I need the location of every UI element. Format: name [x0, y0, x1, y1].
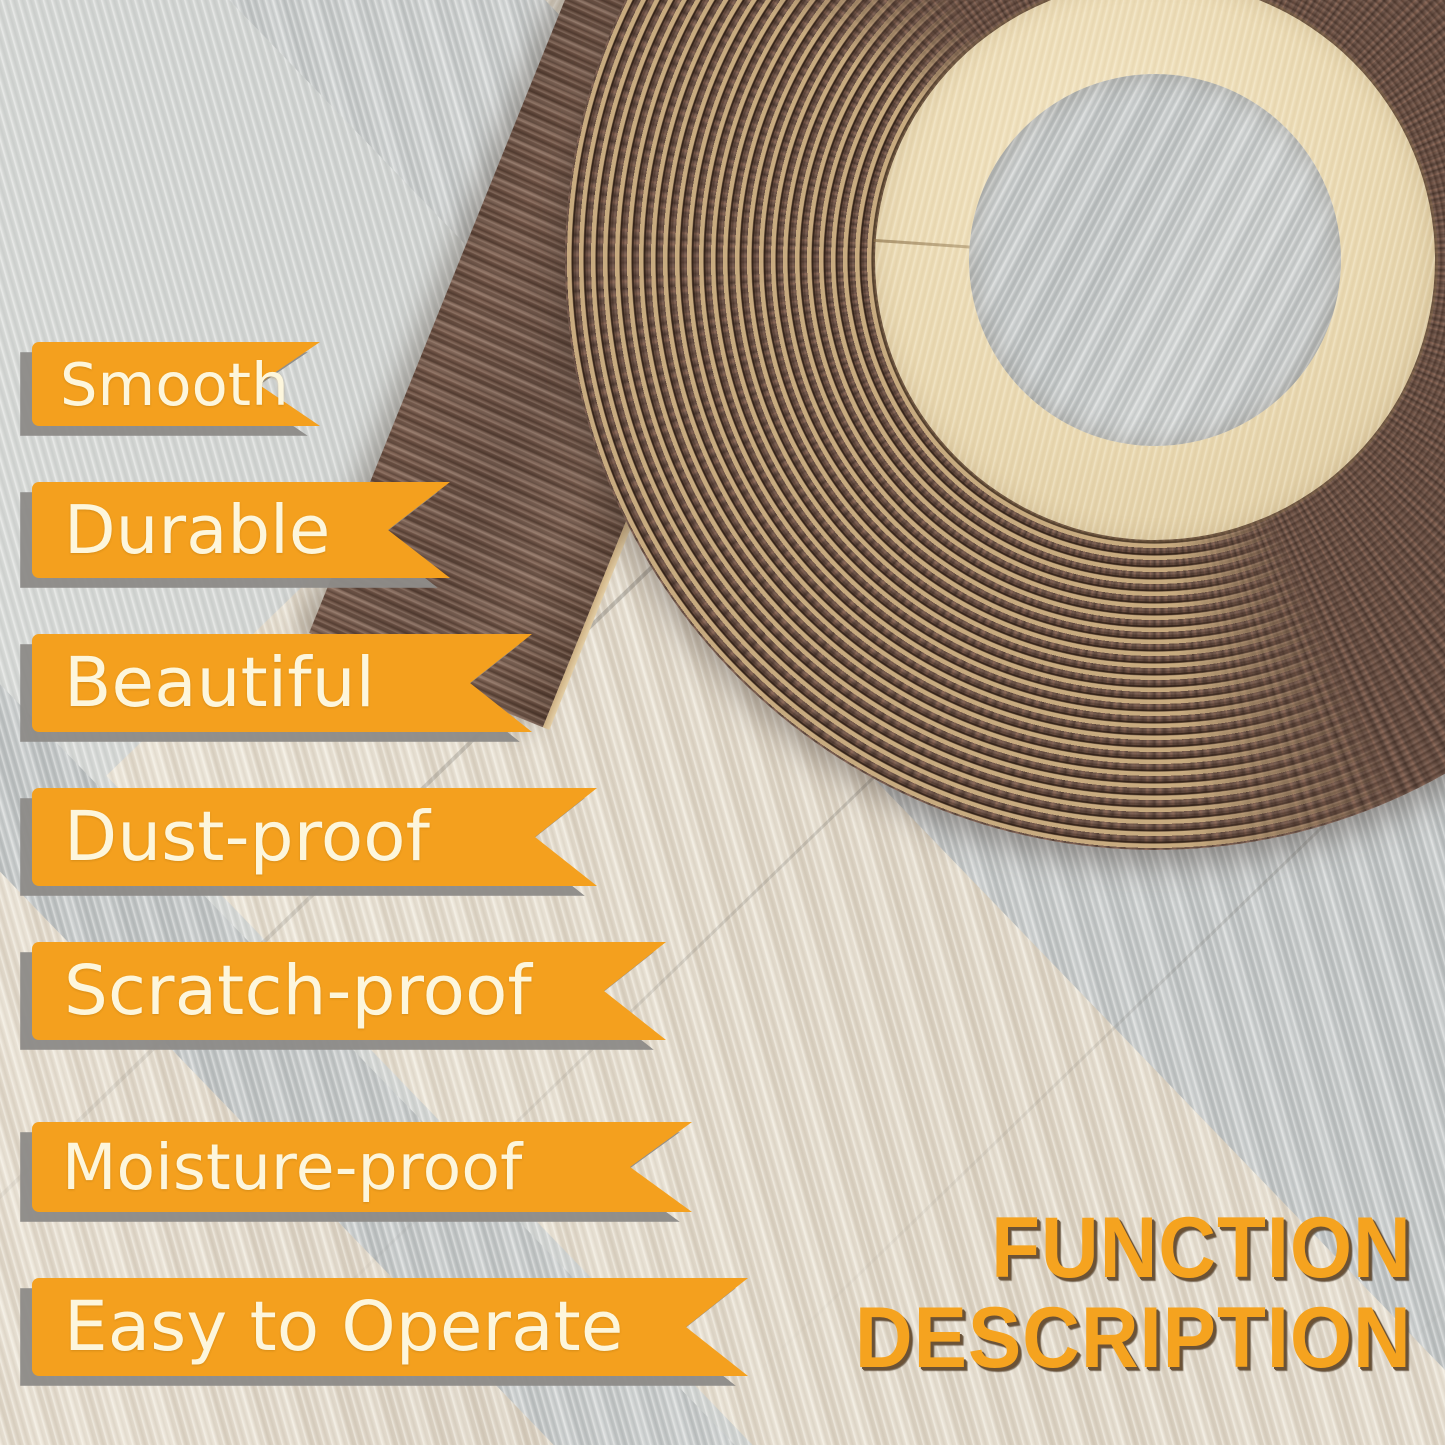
feature-banner-label: Dust-proof: [64, 797, 430, 877]
feature-banner: Moisture-proof: [32, 1122, 692, 1212]
title-line-description: DESCRIPTION: [855, 1294, 1412, 1383]
tape-roll-center-hole: [969, 74, 1341, 446]
function-description-title: FUNCTION DESCRIPTION: [813, 1204, 1412, 1383]
feature-banner: Easy to Operate: [32, 1278, 748, 1376]
feature-banner-label: Beautiful: [64, 643, 375, 723]
wood-grain-edge-banding-tape-roll: [565, 0, 1445, 850]
product-feature-infographic: SmoothDurableBeautifulDust-proofScratch-…: [0, 0, 1445, 1445]
feature-banner-label: Scratch-proof: [64, 951, 532, 1031]
feature-banner: Smooth: [32, 342, 320, 426]
feature-banner-label: Smooth: [60, 350, 289, 419]
feature-banner: Beautiful: [32, 634, 532, 732]
feature-banner: Durable: [32, 482, 450, 578]
feature-banner-label: Easy to Operate: [64, 1287, 624, 1367]
feature-banner-label: Durable: [64, 491, 330, 569]
title-line-function: FUNCTION: [855, 1204, 1412, 1293]
feature-banner: Dust-proof: [32, 788, 597, 886]
feature-banner-label: Moisture-proof: [62, 1131, 522, 1204]
feature-banner: Scratch-proof: [32, 942, 666, 1040]
